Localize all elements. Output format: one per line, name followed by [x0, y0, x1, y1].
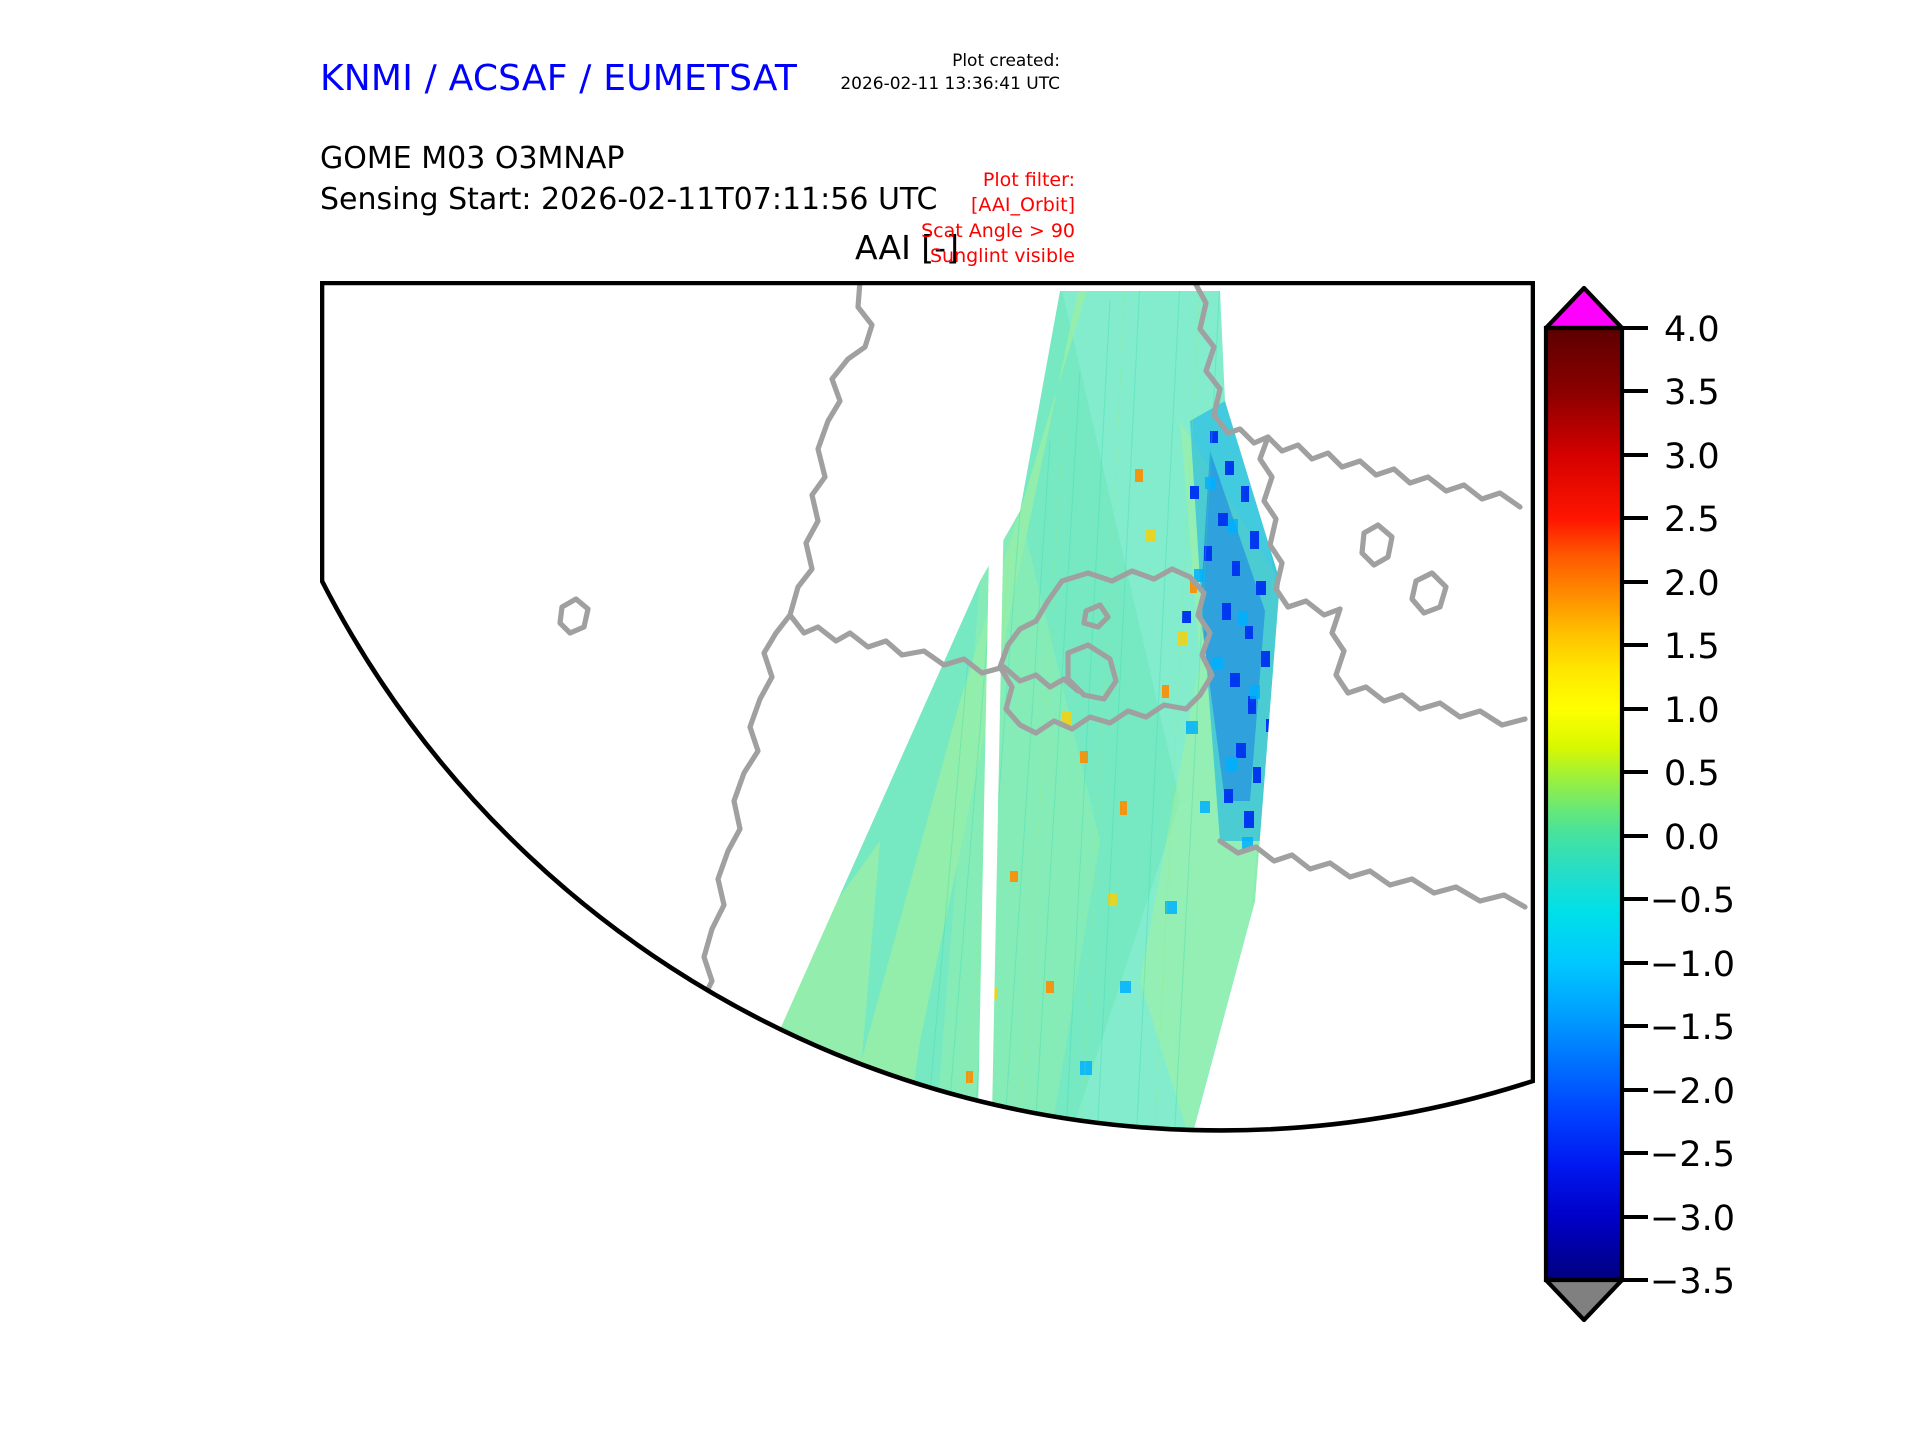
- map-plot-area: [320, 281, 1535, 1321]
- plot-created-label: Plot created:: [840, 50, 1060, 73]
- instrument-line: GOME M03 O3MNAP: [320, 138, 937, 179]
- colorbar-tick-label: −2.0: [1650, 1072, 1735, 1112]
- plot-filter-label: Plot filter:: [921, 168, 1075, 193]
- colorbar-ticks: 4.0 3.5 3.0 2.5 2.0 1.5 1.0 0.5 0.0 −0.5…: [1622, 310, 1735, 1302]
- plot-filter-block: Plot filter: [AAI_Orbit] Scat Angle > 90…: [921, 168, 1075, 269]
- colorbar-tick-label: −1.0: [1650, 945, 1735, 985]
- colorbar-tick-label: 3.5: [1664, 373, 1720, 413]
- plot-filter-sunglint: Sunglint visible: [921, 244, 1075, 269]
- colorbar-over-range-arrow: [1546, 288, 1622, 328]
- organisation-title: KNMI / ACSAF / EUMETSAT: [320, 58, 797, 99]
- sensing-start-line: Sensing Start: 2026-02-11T07:11:56 UTC: [320, 179, 937, 220]
- plot-filter-product: [AAI_Orbit]: [921, 193, 1075, 218]
- plot-created-timestamp: 2026-02-11 13:36:41 UTC: [840, 73, 1060, 96]
- colorbar-tick-label: 2.5: [1664, 500, 1720, 540]
- colorbar-tick-label: −1.5: [1650, 1008, 1735, 1048]
- colorbar-under-range-arrow: [1546, 1280, 1622, 1320]
- colorbar-tick-label: −2.5: [1650, 1135, 1735, 1175]
- map-canvas: [320, 281, 1535, 1321]
- colorbar-canvas: 4.0 3.5 3.0 2.5 2.0 1.5 1.0 0.5 0.0 −0.5…: [1538, 284, 1868, 1324]
- colorbar-tick-label: −3.5: [1650, 1262, 1735, 1302]
- colorbar-tick-label: 0.5: [1664, 754, 1720, 794]
- colorbar: 4.0 3.5 3.0 2.5 2.0 1.5 1.0 0.5 0.0 −0.5…: [1538, 284, 1868, 1324]
- colorbar-tick-label: −0.5: [1650, 881, 1735, 921]
- colorbar-gradient: [1546, 328, 1622, 1280]
- colorbar-tick-label: 0.0: [1664, 818, 1720, 858]
- plot-created-block: Plot created: 2026-02-11 13:36:41 UTC: [840, 50, 1060, 96]
- dataset-info-block: GOME M03 O3MNAP Sensing Start: 2026-02-1…: [320, 138, 937, 221]
- colorbar-tick-label: −3.0: [1650, 1199, 1735, 1239]
- colorbar-tick-label: 3.0: [1664, 437, 1720, 477]
- colorbar-tick-label: 1.0: [1664, 691, 1720, 731]
- colorbar-tick-label: 4.0: [1664, 310, 1720, 350]
- plot-filter-scat-angle: Scat Angle > 90: [921, 219, 1075, 244]
- colorbar-tick-label: 2.0: [1664, 564, 1720, 604]
- colorbar-tick-label: 1.5: [1664, 627, 1720, 667]
